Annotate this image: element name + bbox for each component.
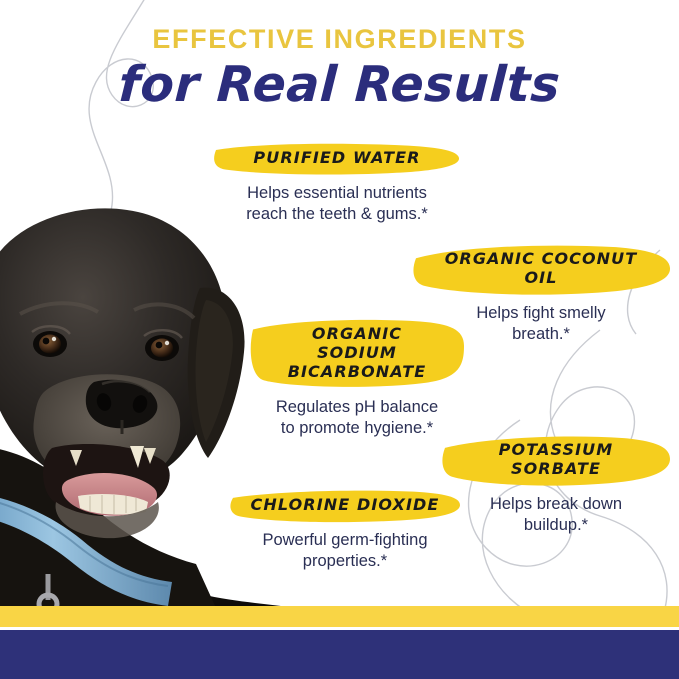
ingredient-name: POTASSIUM SORBATE — [440, 434, 672, 487]
ingredient-name: ORGANIC COCONUT OIL — [410, 243, 672, 296]
bottom-bar-yellow — [0, 606, 679, 627]
headline-eyebrow: EFFECTIVE INGREDIENTS — [0, 26, 679, 53]
ingredient-card-purified-water: PURIFIED WATER Helps essential nutrients… — [212, 142, 462, 225]
ingredient-description: Helps break down buildup.* — [440, 494, 672, 536]
ingredient-infographic: EFFECTIVE INGREDIENTS for Real Results P… — [0, 0, 679, 679]
ingredient-tag: PURIFIED WATER — [212, 142, 462, 176]
ingredient-tag: ORGANIC SODIUM BICARBONATE — [248, 318, 466, 390]
ingredient-card-chlorine-dioxide: CHLORINE DIOXIDE Powerful germ-fighting … — [228, 489, 462, 572]
ingredient-card-organic-sodium-bicarbonate: ORGANIC SODIUM BICARBONATE Regulates pH … — [248, 318, 466, 439]
ingredient-description: Powerful germ-fighting properties.* — [228, 530, 462, 572]
ingredient-tag: CHLORINE DIOXIDE — [228, 489, 462, 523]
ingredient-description: Regulates pH balance to promote hygiene.… — [248, 397, 466, 439]
ingredient-name: PURIFIED WATER — [212, 142, 462, 176]
bottom-bar-navy — [0, 630, 679, 679]
ingredient-name: CHLORINE DIOXIDE — [228, 489, 462, 523]
ingredient-tag: ORGANIC COCONUT OIL — [410, 243, 672, 296]
ingredient-card-potassium-sorbate: POTASSIUM SORBATE Helps break down build… — [440, 434, 672, 536]
headline-title: for Real Results — [0, 59, 679, 111]
ingredient-tag: POTASSIUM SORBATE — [440, 434, 672, 487]
ingredient-description: Helps essential nutrients reach the teet… — [212, 183, 462, 225]
ingredient-name: ORGANIC SODIUM BICARBONATE — [248, 318, 466, 390]
headline-block: EFFECTIVE INGREDIENTS for Real Results — [0, 26, 679, 111]
